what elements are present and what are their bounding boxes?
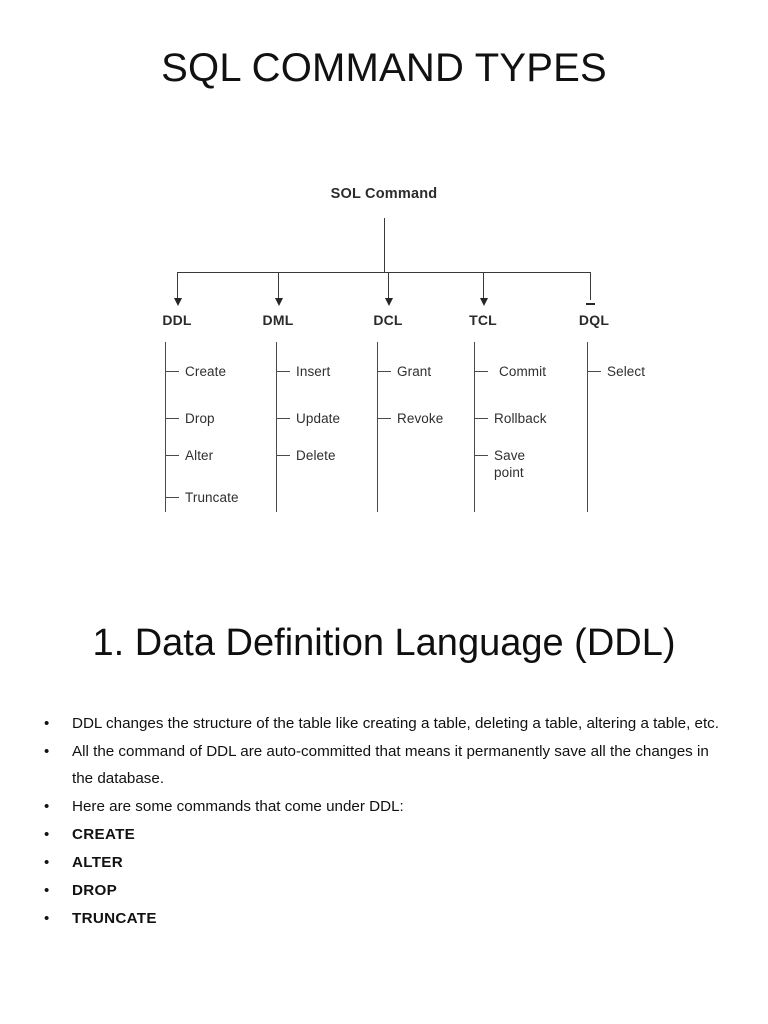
- branch-drop-dql: [590, 272, 591, 300]
- bullet-text: Here are some commands that come under D…: [72, 793, 730, 820]
- sublist-spine-dml: [276, 342, 277, 512]
- bullet-marker-icon: •: [40, 849, 72, 876]
- down-arrow-icon-dcl: [385, 298, 393, 306]
- sublist-item-ddl-0: Create: [185, 363, 226, 380]
- bullet-item: • DROP: [40, 877, 730, 904]
- sublist-item-tcl-0: Commit: [499, 363, 546, 380]
- diagram-horizontal-bus: [177, 272, 591, 273]
- sublist-tick-ddl-2: [166, 455, 179, 456]
- category-label-dml: DML: [263, 312, 294, 328]
- sublist-item-tcl-1: Rollback: [494, 410, 547, 427]
- sublist-tick-tcl-1: [475, 418, 488, 419]
- category-label-ddl: DDL: [162, 312, 191, 328]
- sublist-item-ddl-1: Drop: [185, 410, 215, 427]
- bullet-marker-icon: •: [40, 710, 72, 737]
- down-arrow-icon-dml: [275, 298, 283, 306]
- bullet-text: All the command of DDL are auto-committe…: [72, 738, 730, 792]
- sublist-tick-tcl-0: [475, 371, 488, 372]
- down-arrow-icon-ddl: [174, 298, 182, 306]
- page-title: SQL COMMAND TYPES: [0, 46, 768, 91]
- sublist-item-dql-0: Select: [607, 363, 645, 380]
- sublist-item-dml-0: Insert: [296, 363, 330, 380]
- bullet-text: CREATE: [72, 821, 730, 848]
- sublist-spine-ddl: [165, 342, 166, 512]
- sublist-item-ddl-2: Alter: [185, 447, 213, 464]
- sublist-tick-ddl-0: [166, 371, 179, 372]
- sublist-tick-dcl-0: [378, 371, 391, 372]
- diagram-root-node: SOL Command: [0, 186, 768, 202]
- branch-drop-tcl: [483, 272, 484, 300]
- sublist-item-dml-1: Update: [296, 410, 340, 427]
- sublist-spine-dql: [587, 342, 588, 512]
- sublist-item-dml-2: Delete: [296, 447, 336, 464]
- sublist-tick-dml-0: [277, 371, 290, 372]
- sublist-tick-dql-0: [588, 371, 601, 372]
- bullet-item: • CREATE: [40, 821, 730, 848]
- branch-drop-dml: [278, 272, 279, 300]
- sublist-item-dcl-1: Revoke: [397, 410, 443, 427]
- sublist-tick-dml-2: [277, 455, 290, 456]
- sublist-item-tcl-2: Save point: [494, 447, 525, 481]
- bullet-item: • Here are some commands that come under…: [40, 793, 730, 820]
- sublist-tick-dcl-1: [378, 418, 391, 419]
- bullet-text: DDL changes the structure of the table l…: [72, 710, 730, 737]
- sublist-item-ddl-3: Truncate: [185, 489, 239, 506]
- bullet-marker-icon: •: [40, 877, 72, 904]
- sublist-tick-ddl-3: [166, 497, 179, 498]
- category-label-dcl: DCL: [373, 312, 402, 328]
- section-heading: 1. Data Definition Language (DDL): [0, 622, 768, 665]
- sublist-tick-tcl-2: [475, 455, 488, 456]
- category-label-tcl: TCL: [469, 312, 497, 328]
- bullet-marker-icon: •: [40, 738, 72, 765]
- bullet-marker-icon: •: [40, 905, 72, 932]
- sublist-spine-dcl: [377, 342, 378, 512]
- down-arrow-icon-tcl: [480, 298, 488, 306]
- bullet-list: • DDL changes the structure of the table…: [40, 710, 730, 933]
- bullet-item: • ALTER: [40, 849, 730, 876]
- category-label-dql: DQL: [579, 312, 609, 328]
- bullet-marker-icon: •: [40, 821, 72, 848]
- bullet-text: TRUNCATE: [72, 905, 730, 932]
- sublist-tick-dml-1: [277, 418, 290, 419]
- bullet-text: DROP: [72, 877, 730, 904]
- bullet-item: • TRUNCATE: [40, 905, 730, 932]
- bullet-item: • All the command of DDL are auto-commit…: [40, 738, 730, 792]
- bullet-marker-icon: •: [40, 793, 72, 820]
- bullet-text: ALTER: [72, 849, 730, 876]
- sql-command-tree-diagram: SOL Command DDL Create Drop Alter Trunca…: [0, 170, 768, 540]
- sublist-item-dcl-0: Grant: [397, 363, 431, 380]
- branch-drop-dcl: [388, 272, 389, 300]
- bullet-item: • DDL changes the structure of the table…: [40, 710, 730, 737]
- diagram-root-stem: [384, 218, 385, 272]
- sublist-spine-tcl: [474, 342, 475, 512]
- flat-tick-icon-dql: [586, 303, 595, 305]
- branch-drop-ddl: [177, 272, 178, 300]
- sublist-tick-ddl-1: [166, 418, 179, 419]
